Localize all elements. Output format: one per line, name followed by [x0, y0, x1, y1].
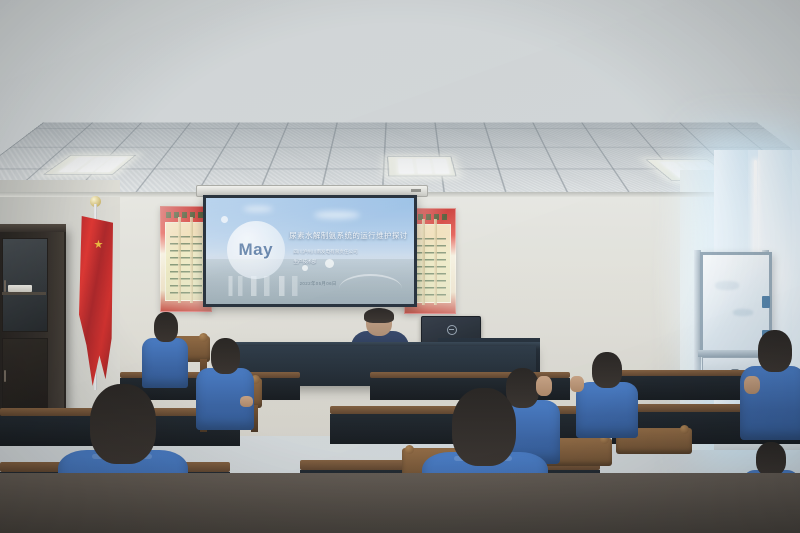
- person-uniform: [576, 382, 638, 438]
- meeting-room-photo: May 尿素水解制氨系统的运行维护探讨 四川泸州川南发电有限责任公司 生产技术部…: [0, 0, 800, 533]
- person-hand: [240, 396, 253, 407]
- chair-knob: [405, 445, 414, 454]
- slide-month-badge: May: [227, 221, 285, 279]
- person-head: [154, 312, 178, 342]
- person-hand: [744, 376, 760, 394]
- audience-person: [576, 352, 638, 438]
- flag-star-icon: [94, 240, 103, 249]
- slide-org-line-1: 四川泸州川南发电有限责任公司: [293, 249, 357, 256]
- presenter-hair: [364, 308, 394, 323]
- slide-org-line-2: 生产技术部: [293, 259, 316, 266]
- cabinet-shelf: [2, 292, 46, 295]
- person-head: [211, 338, 240, 374]
- presentation-slide: May 尿素水解制氨系统的运行维护探讨 四川泸州川南发电有限责任公司 生产技术部…: [206, 198, 414, 304]
- person-head: [758, 330, 792, 372]
- person-uniform: [142, 338, 188, 388]
- projection-screen: May 尿素水解制氨系统的运行维护探讨 四川泸州川南发电有限责任公司 生产技术部…: [203, 195, 417, 307]
- person-head: [452, 388, 516, 466]
- cabinet-papers: [8, 285, 32, 292]
- slide-date: 2022年05月06日: [300, 281, 337, 287]
- slide-title: 尿素水解制氨系统的运行维护探讨: [289, 230, 408, 241]
- audience-person: [142, 312, 188, 388]
- cabinet-handle[interactable]: [4, 370, 6, 382]
- screen-pull-knob[interactable]: [411, 189, 421, 192]
- floor: [0, 473, 800, 533]
- chair-knob: [680, 425, 689, 434]
- audience-person: [196, 338, 254, 430]
- whiteboard-clip[interactable]: [762, 296, 770, 308]
- cabinet-lower-door[interactable]: [2, 338, 48, 416]
- person-head: [756, 442, 786, 476]
- slide-month-text: May: [239, 240, 274, 260]
- person-head: [592, 352, 622, 388]
- monitor-logo-icon: [447, 325, 457, 335]
- person-head: [90, 384, 156, 464]
- cabinet-top: [0, 224, 66, 232]
- slide-decor-dot: [221, 216, 228, 223]
- cabinet-handle[interactable]: [4, 280, 6, 292]
- slide-cloud: [314, 211, 360, 219]
- document-cabinet[interactable]: [0, 228, 66, 422]
- audience-person: [740, 330, 800, 440]
- person-hand: [570, 376, 584, 392]
